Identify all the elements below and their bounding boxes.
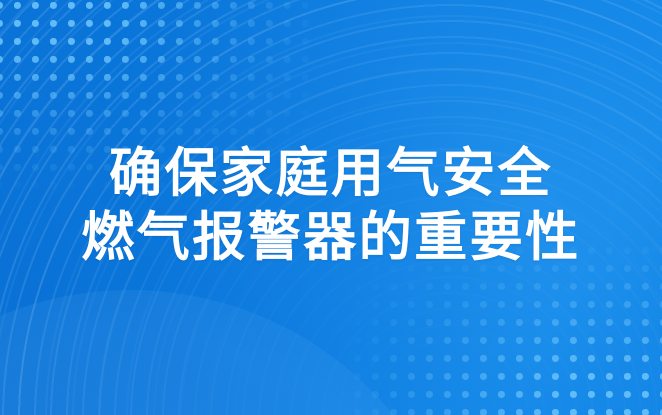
headline-line-2: 燃气报警器的重要性 bbox=[0, 206, 662, 270]
headline-line-1: 确保家庭用气安全 bbox=[0, 142, 662, 206]
gas-safety-banner: 确保家庭用气安全 燃气报警器的重要性 bbox=[0, 0, 662, 415]
banner-headline: 确保家庭用气安全 燃气报警器的重要性 bbox=[0, 142, 662, 270]
